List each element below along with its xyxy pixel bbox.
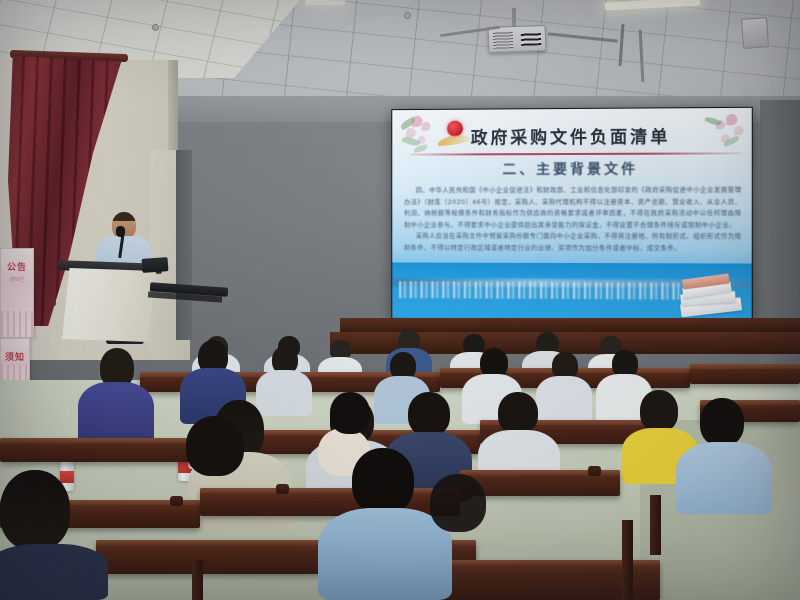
projector-vent <box>493 31 514 49</box>
slide-body-text: 四、中华人民共和国《中小企业促进法》和财政部、工业和信息化部印发的《政府采购促进… <box>404 185 742 255</box>
bench-row <box>690 364 800 384</box>
stage-side-doorway <box>176 150 192 340</box>
slide-title: 政府采购文件负面清单 <box>392 122 751 149</box>
slide-title-rule <box>410 152 742 155</box>
bench-leg <box>650 495 661 555</box>
projector-lens <box>521 32 541 46</box>
ceiling-light <box>305 0 345 5</box>
poster-subtitle: 通知栏 <box>1 277 33 284</box>
presenter-laptop <box>142 257 169 273</box>
sprinkler-head <box>152 24 159 31</box>
wall-speaker <box>741 17 769 49</box>
projection-screen: 政府采购文件负面清单 二、主要背景文件 四、中华人民共和国《中小企业促进法》和财… <box>391 107 752 321</box>
presentation-slide: 政府采购文件负面清单 二、主要背景文件 四、中华人民共和国《中小企业促进法》和财… <box>392 108 751 320</box>
poster-title: 公告 <box>1 263 33 274</box>
right-wall-pillar <box>760 100 800 400</box>
sprinkler-head <box>404 12 411 19</box>
slide-cityscape-photo <box>392 262 751 320</box>
stacked-books-illustration <box>672 267 745 318</box>
bench-knob <box>588 466 601 476</box>
wall-poster: 公告 通知栏 <box>0 248 34 338</box>
microphone-icon <box>116 226 125 237</box>
poster-title: 须知 <box>1 353 29 364</box>
slide-body-paragraph: 四、中华人民共和国《中小企业促进法》和财政部、工业和信息化部印发的《政府采购促进… <box>404 185 742 231</box>
slide-subtitle: 二、主要背景文件 <box>392 158 751 179</box>
bench-leg <box>192 560 203 600</box>
photo-scene: 公告 通知栏 须知 <box>0 0 800 600</box>
slide-body-paragraph: 采购人应当在采购文件中预留采购份额专门面向中小企业采购，不得将注册地、所有制形式… <box>404 231 742 255</box>
bench-knob <box>276 484 289 494</box>
bench-knob <box>170 496 183 506</box>
podium <box>62 268 156 342</box>
bench-leg <box>622 520 633 600</box>
